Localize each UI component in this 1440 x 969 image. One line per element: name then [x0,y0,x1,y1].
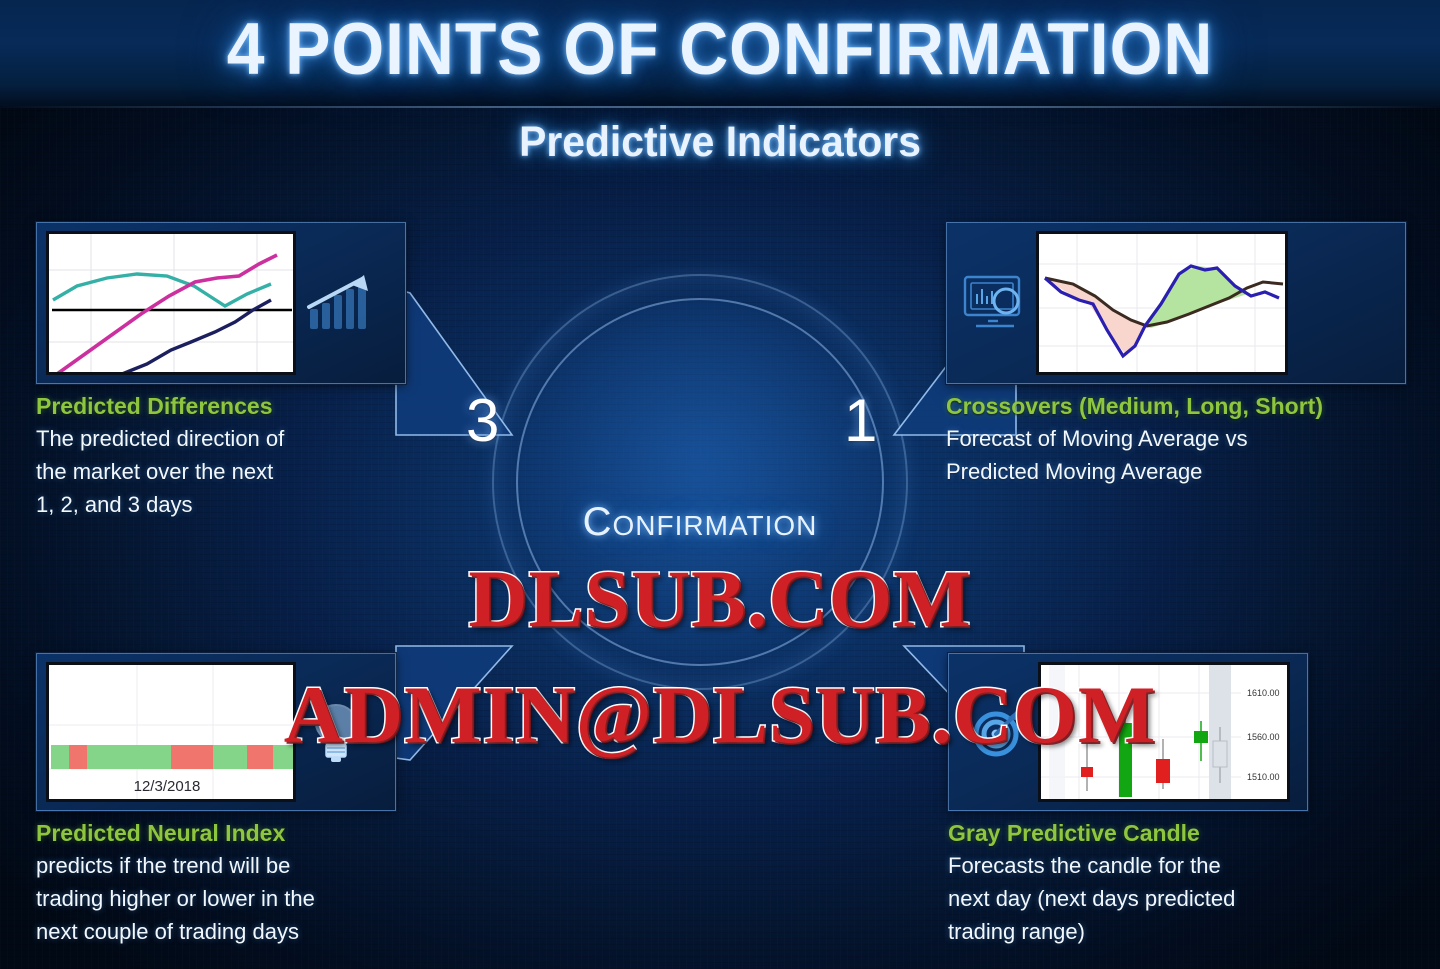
crossovers-chart [1039,234,1288,375]
panel-body-line: next day (next days predicted [948,882,1308,915]
panel-body-line: trading higher or lower in the [36,882,396,915]
panel-body-line: The predicted direction of [36,422,406,455]
panel-frame [946,222,1406,384]
panel-predicted-differences[interactable]: Predicted Differences The predicted dire… [36,222,406,521]
predicted-differences-chart [49,234,296,375]
panel-body: Forecast of Moving Average vs Predicted … [946,422,1406,488]
panel-body-line: Forecast of Moving Average vs [946,422,1406,455]
panel-body-line: Predicted Moving Average [946,455,1406,488]
panel-body-line: trading range) [948,915,1308,948]
neural-index-date-label: 12/3/2018 [134,778,201,795]
connector-wedge-left [392,285,522,450]
callout-number-3: 3 [466,386,499,455]
svg-text:1510.00: 1510.00 [1247,772,1280,782]
panel-body: predicts if the trend will be trading hi… [36,849,396,948]
panel-body: The predicted direction of the market ov… [36,422,406,521]
panel-body-line: predicts if the trend will be [36,849,396,882]
panel-body-line: next couple of trading days [36,915,396,948]
bar-chart-up-icon [296,243,382,363]
panel-title: Predicted Neural Index [36,820,396,847]
panel-body-line: the market over the next [36,455,406,488]
page-subtitle: Predictive Indicators [36,118,1404,167]
panel-frame [36,222,406,384]
watermark-line-2: ADMIN@DLSUB.COM [0,668,1440,762]
slide-canvas: 4 POINTS OF CONFIRMATION Predictive Indi… [0,0,1440,969]
thumb-predicted-differences [46,231,296,375]
panel-crossovers[interactable]: Crossovers (Medium, Long, Short) Forecas… [946,222,1406,488]
panel-body-line: 1, 2, and 3 days [36,488,406,521]
center-label: Confirmation [440,500,960,545]
page-title: 4 POINTS OF CONFIRMATION [50,8,1389,91]
thumb-crossovers [1036,231,1288,375]
panel-title: Crossovers (Medium, Long, Short) [946,393,1406,420]
panel-body-line: Forecasts the candle for the [948,849,1308,882]
callout-number-1: 1 [844,386,877,455]
panel-title: Predicted Differences [36,393,406,420]
panel-title: Gray Predictive Candle [948,820,1308,847]
panel-body: Forecasts the candle for the next day (n… [948,849,1308,948]
watermark-line-1: DLSUB.COM [0,552,1440,646]
monitor-analytics-icon [956,243,1036,363]
